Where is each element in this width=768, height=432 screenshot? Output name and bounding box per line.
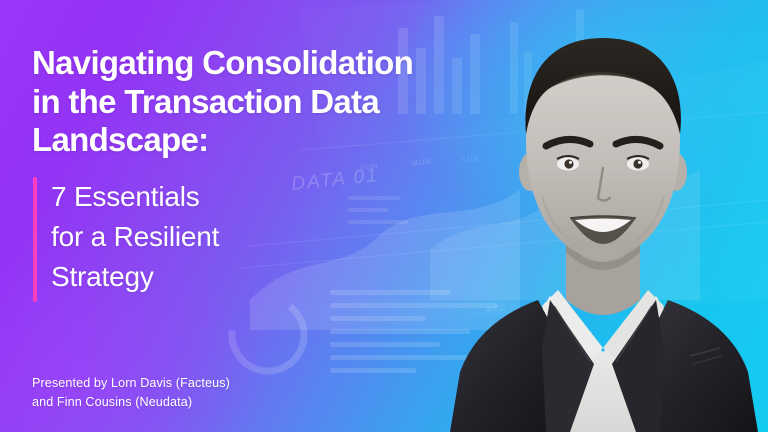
title-line-1: Navigating Consolidation — [32, 44, 532, 83]
credits-line-1: Presented by Lorn Davis (Facteus) — [32, 374, 230, 393]
subtitle-line-3: Strategy — [51, 257, 219, 297]
title-line-3: Landscape: — [32, 121, 532, 160]
accent-bar — [33, 177, 37, 302]
subtitle-line-2: for a Resilient — [51, 217, 219, 257]
slide-title: Navigating Consolidation in the Transact… — [32, 44, 532, 160]
slide-text-content: Navigating Consolidation in the Transact… — [32, 0, 502, 432]
subtitle-line-1: 7 Essentials — [51, 177, 219, 217]
title-line-2: in the Transaction Data — [32, 83, 532, 122]
presenter-credits: Presented by Lorn Davis (Facteus) and Fi… — [32, 374, 230, 412]
background-day-label-thu: THU — [531, 299, 550, 310]
credits-line-2: and Finn Cousins (Neudata) — [32, 393, 230, 412]
subtitle-block: 7 Essentials for a Resilient Strategy — [33, 177, 219, 302]
slide-subtitle: 7 Essentials for a Resilient Strategy — [51, 177, 219, 302]
webinar-title-slide: DATA 01 SUN MON TUE WED THU — [0, 0, 768, 432]
